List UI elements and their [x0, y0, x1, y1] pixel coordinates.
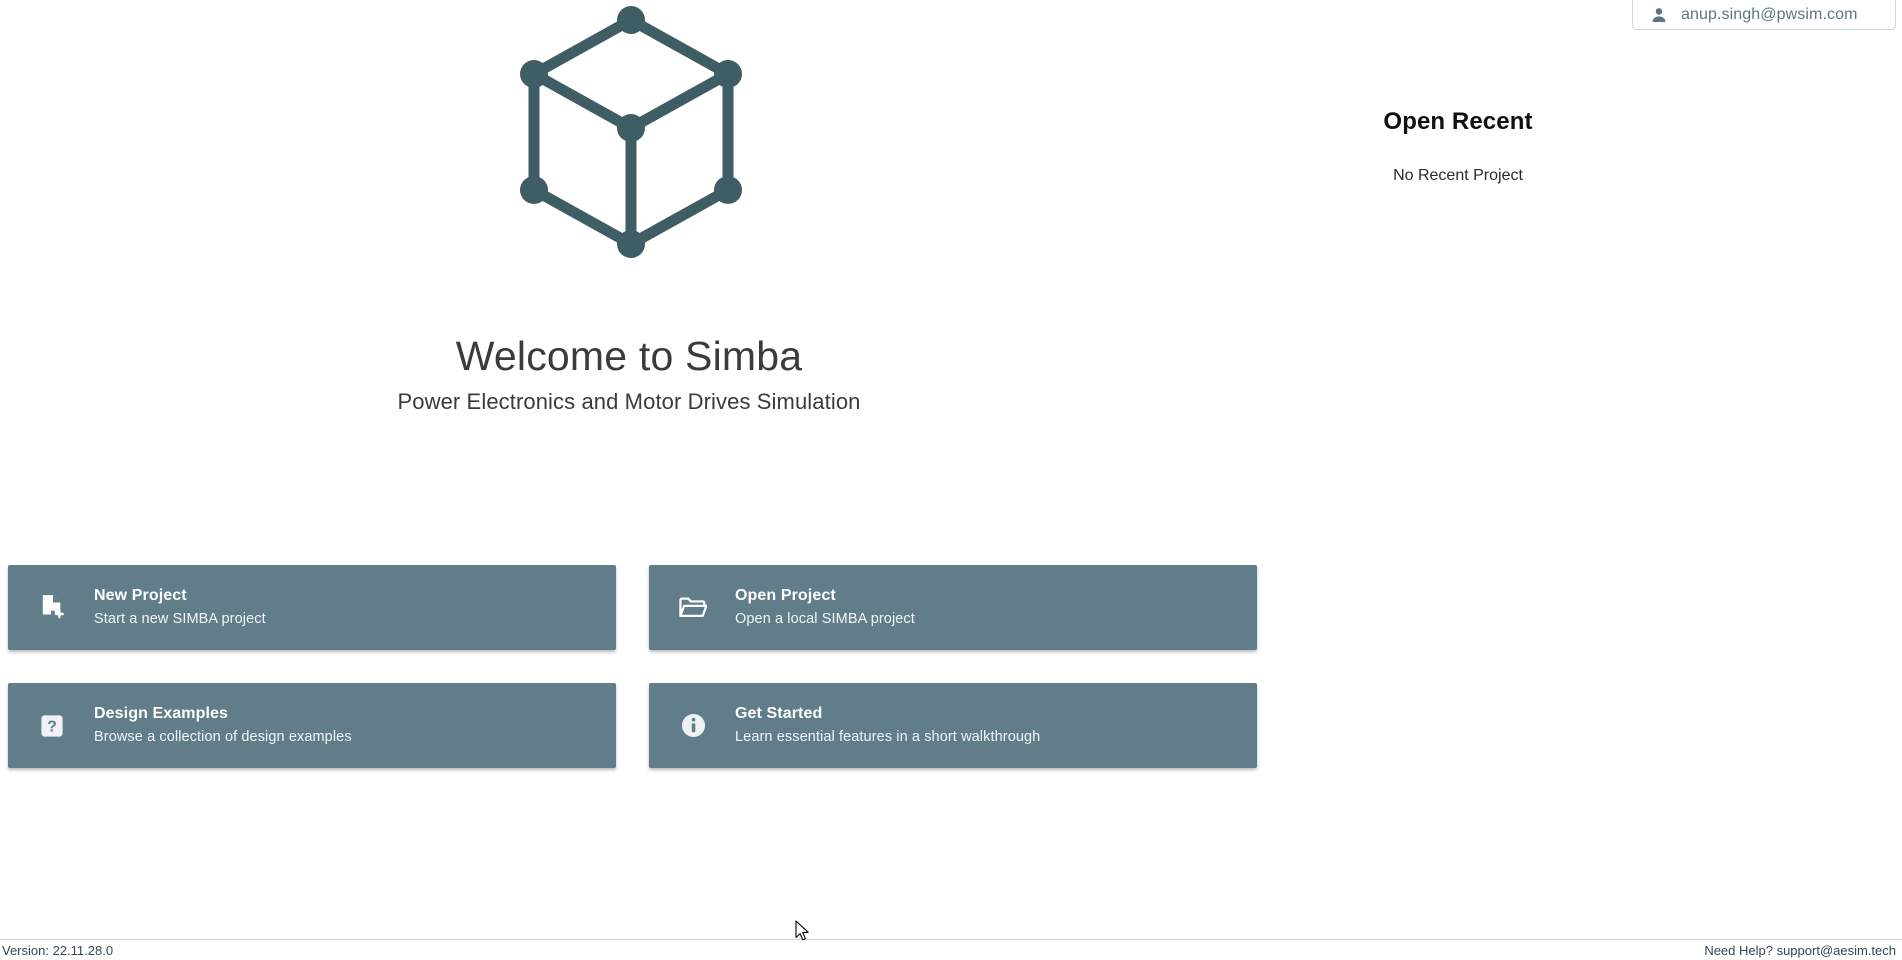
file-plus-icon	[32, 594, 72, 622]
tile-title: Get Started	[735, 704, 1040, 723]
design-examples-tile[interactable]: ? Design Examples Browse a collection of…	[8, 683, 616, 768]
support-help-label[interactable]: Need Help? support@aesim.tech	[1704, 943, 1896, 958]
tile-subtitle: Browse a collection of design examples	[94, 729, 352, 746]
get-started-tile[interactable]: Get Started Learn essential features in …	[649, 683, 1257, 768]
tile-title: Design Examples	[94, 704, 352, 723]
tile-subtitle: Start a new SIMBA project	[94, 611, 266, 628]
page-title: Welcome to Simba	[0, 334, 1258, 380]
version-label: Version: 22.11.28.0	[2, 943, 113, 958]
open-recent-heading: Open Recent	[1258, 108, 1658, 136]
tile-title: New Project	[94, 586, 266, 605]
open-project-tile[interactable]: Open Project Open a local SIMBA project	[649, 565, 1257, 650]
folder-open-icon	[673, 596, 713, 619]
user-account-badge[interactable]: anup.singh@pwsim.com	[1632, 0, 1896, 30]
new-project-tile[interactable]: New Project Start a new SIMBA project	[8, 565, 616, 650]
tile-subtitle: Learn essential features in a short walk…	[735, 729, 1040, 746]
question-mark-box-icon: ?	[32, 714, 72, 738]
info-circle-icon	[673, 713, 713, 738]
person-icon	[1651, 7, 1667, 23]
simba-cube-logo	[505, 4, 757, 260]
tile-title: Open Project	[735, 586, 915, 605]
welcome-block: Welcome to Simba Power Electronics and M…	[0, 334, 1258, 415]
action-tiles-grid: New Project Start a new SIMBA project Op…	[8, 565, 1250, 768]
status-bar: Version: 22.11.28.0 Need Help? support@a…	[0, 939, 1902, 960]
no-recent-project-label: No Recent Project	[1258, 167, 1658, 185]
open-recent-panel: Open Recent No Recent Project	[1258, 108, 1658, 185]
svg-text:?: ?	[47, 718, 57, 735]
tile-subtitle: Open a local SIMBA project	[735, 611, 915, 628]
user-email-label: anup.singh@pwsim.com	[1681, 6, 1858, 24]
page-subtitle: Power Electronics and Motor Drives Simul…	[0, 389, 1258, 415]
